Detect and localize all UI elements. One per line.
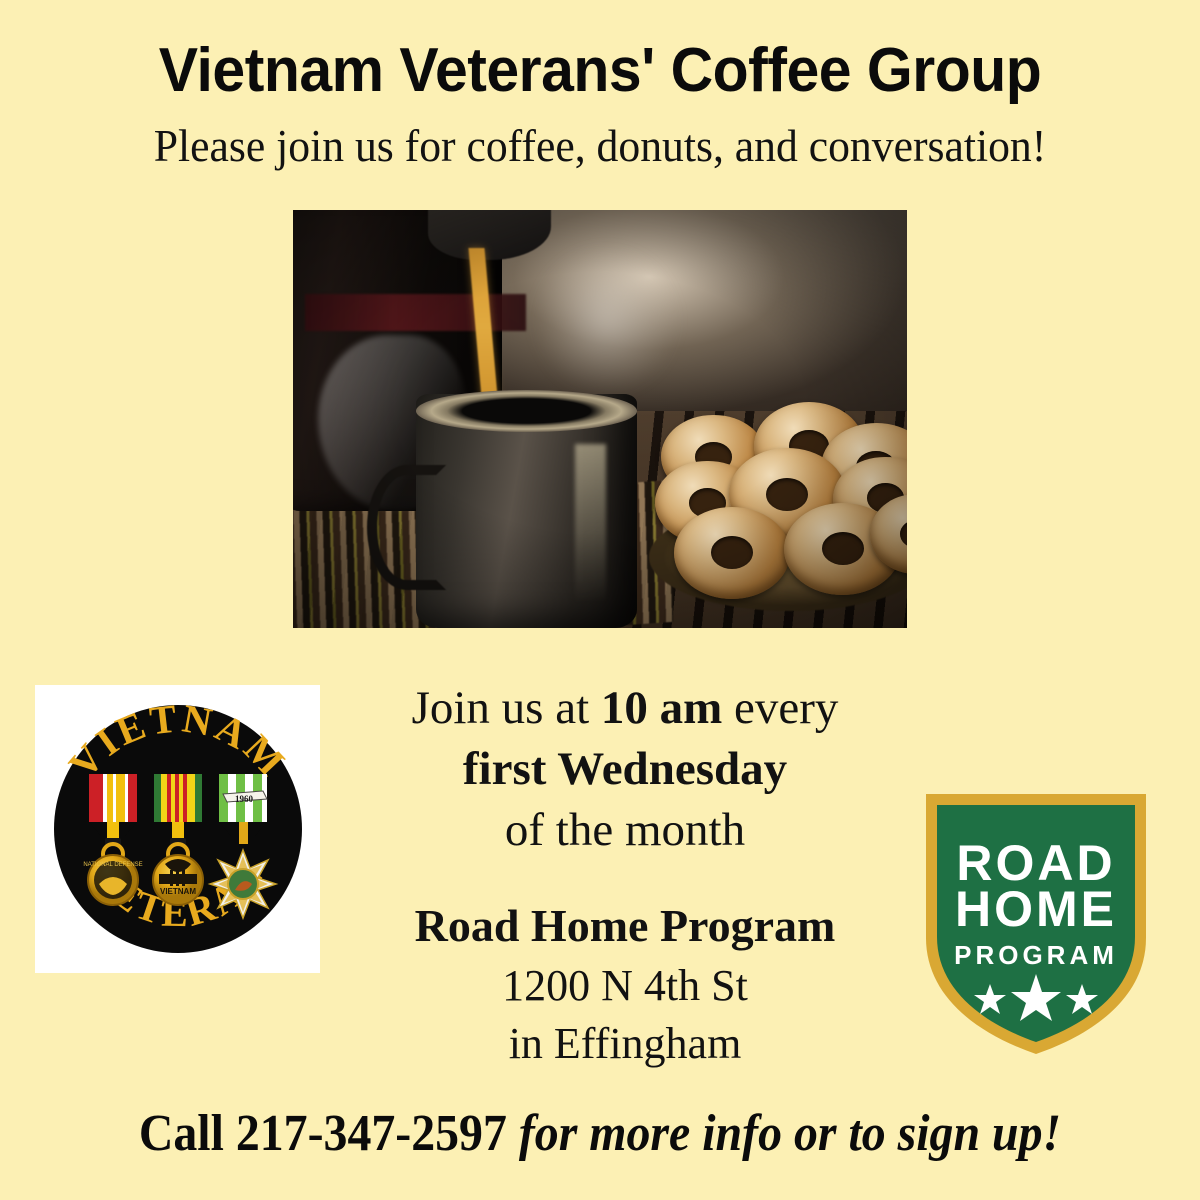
city-name: in Effingham	[340, 1015, 910, 1073]
meeting-time-line-1: Join us at 10 am every	[340, 678, 910, 739]
meeting-time-line-3: of the month	[340, 800, 910, 861]
svg-text:NATIONAL DEFENSE: NATIONAL DEFENSE	[83, 862, 142, 868]
organization-name: Road Home Program	[340, 896, 910, 957]
meeting-day: first Wednesday	[463, 743, 787, 795]
call-phone-text: Call 217-347-2597	[139, 1105, 507, 1162]
contact-line: Call 217-347-2597 for more info or to si…	[48, 1104, 1152, 1163]
svg-text:VIETNAM: VIETNAM	[160, 887, 196, 896]
shield-line-2: HOME	[955, 881, 1117, 937]
photo-vignette	[293, 210, 907, 628]
meeting-time-hour: 10 am	[601, 682, 722, 734]
shield-line-3: PROGRAM	[954, 940, 1118, 970]
svg-text:1960: 1960	[235, 794, 254, 804]
meeting-location-block: Road Home Program 1200 N 4th St in Effin…	[340, 896, 910, 1073]
vietnam-veteran-emblem-icon: VIETNAM VETERAN NATIONAL DEFENS	[47, 698, 309, 960]
page-subtitle: Please join us for coffee, donuts, and c…	[18, 122, 1182, 172]
meeting-time-prefix: Join us at	[412, 682, 601, 734]
meeting-time-line-2: first Wednesday	[340, 739, 910, 800]
road-home-program-logo: ROAD HOME PROGRAM	[920, 788, 1152, 1058]
vietnam-veteran-badge: VIETNAM VETERAN NATIONAL DEFENS	[35, 685, 320, 973]
page-title: Vietnam Veterans' Coffee Group	[30, 38, 1170, 103]
photo-scene	[293, 210, 907, 628]
meeting-time-suffix: every	[722, 682, 838, 734]
meeting-time-block: Join us at 10 am every first Wednesday o…	[340, 678, 910, 861]
starburst-medal	[210, 850, 276, 918]
call-cta-text: for more info or to sign up!	[507, 1105, 1061, 1162]
street-address: 1200 N 4th St	[340, 957, 910, 1015]
flyer-canvas: Vietnam Veterans' Coffee Group Please jo…	[0, 0, 1200, 1200]
shield-icon: ROAD HOME PROGRAM	[920, 788, 1152, 1058]
coffee-and-donuts-photo	[293, 210, 907, 628]
